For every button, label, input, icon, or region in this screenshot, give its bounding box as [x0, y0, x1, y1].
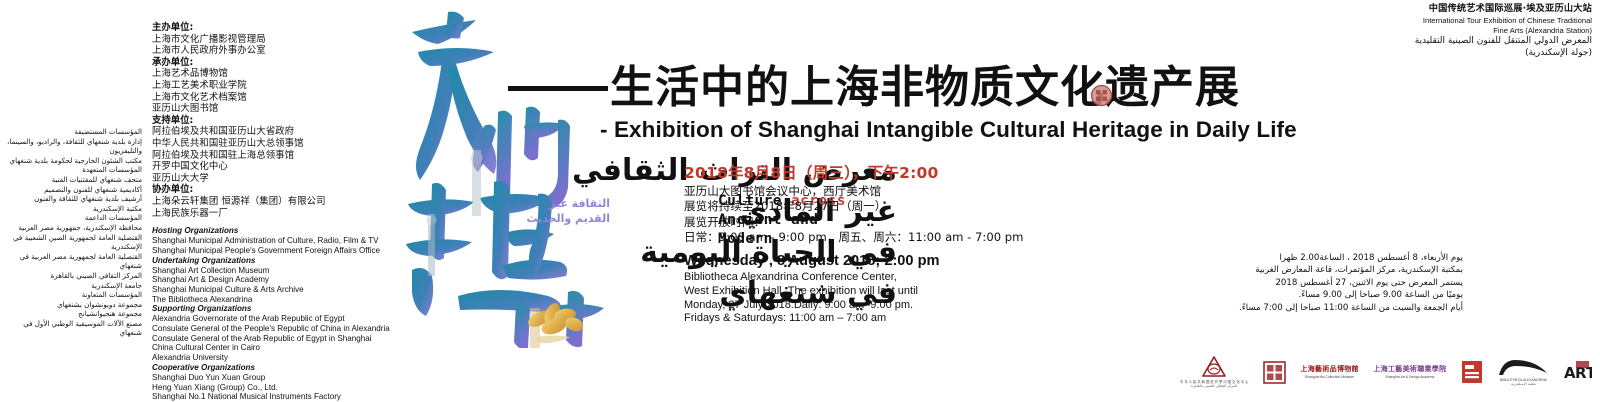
event-en-line2: West Exhibition Hall ;The exhibition wil…	[684, 285, 1114, 299]
header-block: 中国传统艺术国际巡展·埃及亚历山大站 International Tour Ex…	[1360, 3, 1592, 59]
arabic-organizations-column: المؤسسات المستضيفة إدارة بلدية شنغهاي لل…	[2, 127, 142, 338]
org-spacer	[152, 219, 402, 226]
en-org-line: Shanghai Art Collection Museum	[152, 266, 402, 276]
logo-shanghai-seal	[1263, 361, 1286, 384]
arabic-org-line: متحف شنغهاي للمقتنيات الفنية	[2, 175, 142, 185]
cn-org-line: 阿拉伯埃及共和国驻上海总领事馆	[152, 150, 402, 162]
cn-org-line: 上海市文化艺术档案馆	[152, 92, 402, 104]
en-org-line: Consulate General of the Arab Republic o…	[152, 334, 402, 344]
en-org-line: Alexandria Governorate of the Arab Repub…	[152, 314, 402, 324]
header-title-cn: 中国传统艺术国际巡展·埃及亚历山大站	[1360, 3, 1592, 15]
arabic-org-line: المؤسسات الداعمة	[2, 213, 142, 223]
header-title-en-line2: Fine Arts (Alexandria Station)	[1360, 26, 1592, 35]
organizations-column: 主办单位: 上海市文化广播影视管理局 上海市人民政府外事办公室 承办单位: 上海…	[152, 22, 402, 402]
arabic-org-line: مجموعة هنجيوانشيانج	[2, 309, 142, 319]
arabic-org-line: القنصلية العامة لجمهورية مصر العربية في …	[2, 252, 142, 271]
cn-org-line: 上海艺术品博物馆	[152, 68, 402, 80]
cn-org-line: 开罗中国文化中心	[152, 161, 402, 173]
en-undertaking-heading: Undertaking Organizations	[152, 256, 402, 266]
event-ar-line1: يوم الأربعاء، 8 أغسطس 2018 ، الساعة2.00 …	[1118, 252, 1463, 264]
en-cooperative-heading: Cooperative Organizations	[152, 363, 402, 373]
bibliotheca-icon	[1497, 357, 1549, 377]
arabic-org-line: مكتب الشئون الخارجية لحكومة بلدية شنغهاي	[2, 156, 142, 166]
page-title-en: - Exhibition of Shanghai Intangible Cult…	[600, 117, 1297, 143]
header-title-en-line1: International Tour Exhibition of Chinese…	[1360, 16, 1592, 25]
event-ar-line5: أيام الجمعة والسبت من الساعة 11:00 صباحا…	[1118, 302, 1463, 314]
page-title-cn: 生活中的上海非物质文化遗产展	[610, 62, 1240, 114]
event-en-line3: Monday, 27 July 2018:Daily: 9:00 am–9:00…	[684, 299, 1114, 313]
arabic-org-line: أكاديمية شنغهاي للفنون والتصميم	[2, 185, 142, 195]
event-en-line4: Fridays & Saturdays: 11:00 am – 7:00 am	[684, 312, 1114, 326]
title-dash	[508, 86, 608, 91]
arabic-org-line: أرشيف بلدية شنغهاي للثقافة والفنون	[2, 194, 142, 204]
shanghai-seal-icon	[1263, 361, 1286, 384]
cn-org-line: 亚历山大大学	[152, 173, 402, 185]
en-org-line: Alexandria University	[152, 353, 402, 363]
sponsor-logo-strip: 中 华 人 民 共 和 国 驻 开 罗 中 国 文 化 中 心 المركز ا…	[1180, 348, 1592, 396]
event-details-cn: 2018年8月8日（周三），下午2:00 亚历山大图书馆会议中心，西厅美术馆 展…	[684, 163, 1184, 246]
poster-canvas: 中国传统艺术国际巡展·埃及亚历山大站 International Tour Ex…	[0, 0, 1600, 400]
en-org-line: The Bibliotheca Alexandrina	[152, 295, 402, 305]
arabic-org-line: المؤسسات المستضيفة	[2, 127, 142, 137]
logo-mark-cn: 上海藝術品博物館	[1300, 364, 1358, 374]
logo-art: A RT	[1564, 360, 1592, 384]
cn-org-line: 上海市人民政府外事办公室	[152, 45, 402, 57]
logo-shanghai-archive	[1461, 360, 1483, 384]
art-logo-icon: A RT	[1564, 360, 1592, 384]
cn-undertaking-heading: 承办单位:	[152, 57, 402, 69]
cn-cooperative-heading: 协办单位:	[152, 184, 402, 196]
logo-china-cultural-center-cairo: 中 华 人 民 共 和 国 驻 开 罗 中 国 文 化 中 心 المركز ا…	[1180, 355, 1248, 389]
arabic-org-line: مصنع الآلات الموسيقية الوطني الأول في شن…	[2, 319, 142, 338]
en-org-line: Consulate General of the People's Republ…	[152, 324, 402, 334]
arabic-org-line: المركز الثقافي الصيني بالقاهرة	[2, 271, 142, 281]
archive-icon	[1461, 360, 1483, 384]
en-org-line: Shanghai Municipal People's Government F…	[152, 246, 402, 256]
arabic-org-line: جامعة الإسكندرية	[2, 281, 142, 291]
event-details-ar: يوم الأربعاء، 8 أغسطس 2018 ، الساعة2.00 …	[1118, 252, 1463, 314]
event-details-en: Wednesday , 8 August 2018; 2:00 pm Bibli…	[684, 252, 1114, 326]
event-ar-line2: بمكتبة الإسكندرية، مركز المؤتمرات، قاعة …	[1118, 264, 1463, 276]
arabic-org-line: المؤسسات المتعاونة	[2, 290, 142, 300]
logo-bibliotheca-alexandrina: BIBLIOTHECA ALEXANDRINA مكتبة الإسكندرية	[1497, 357, 1549, 387]
logo-caption-ar: مكتبة الإسكندرية	[1511, 382, 1536, 387]
cn-org-line: 上海朵云轩集团 恒源祥（集团）有限公司	[152, 196, 402, 208]
event-cn-hours: 日常：9:00 am - 9:00 pm，周五、周六：11:00 am - 7:…	[684, 230, 1184, 245]
cn-org-line: 上海民族乐器一厂	[152, 208, 402, 220]
event-cn-hours-label: 展览开放时间：	[684, 215, 1184, 230]
event-en-line1: Bibliotheca Alexandrina Conference Cente…	[684, 271, 1114, 285]
en-org-line: Shanghai Municipal Culture & Arts Archiv…	[152, 285, 402, 295]
en-org-line: Shanghai Duo Yun Xuan Group	[152, 373, 402, 383]
event-cn-venue: 亚历山大图书馆会议中心，西厅美术馆	[684, 184, 1184, 199]
logo-shanghai-art-collection-museum: 上海藝術品博物館 Shanghai Art Collection Museum	[1300, 364, 1358, 379]
arabic-org-line: محافظة الإسكندرية، جمهورية مصر العربية	[2, 223, 142, 233]
event-ar-line4: يوميًا من الساعة 9.00 صباحا إلى 9.00 مسا…	[1118, 289, 1463, 301]
en-org-line: Shanghai Municipal Administration of Cul…	[152, 236, 402, 246]
en-org-line: Shanghai Art & Design Academy	[152, 275, 402, 285]
cn-org-line: 上海市文化广播影视管理局	[152, 34, 402, 46]
event-cn-highlight: 2018年8月8日（周三），下午2:00	[684, 163, 1184, 184]
cairo-center-icon	[1201, 355, 1227, 379]
cn-org-line: 中华人民共和国驻亚历山大总领事馆	[152, 138, 402, 150]
header-title-ar-line1: المعرض الدولي المتنقل للفنون الصينية الت…	[1360, 36, 1592, 47]
en-org-line: Shanghai No.1 National Musical Instrumen…	[152, 392, 402, 402]
cn-org-line: 亚历山大图书馆	[152, 103, 402, 115]
en-hosting-heading: Hosting Organizations	[152, 226, 402, 236]
event-cn-until: 展览将持续至2018年8月27日（周一）	[684, 199, 1184, 214]
logo-shanghai-art-design-academy: 上海工藝美術職業學院 Shanghai Art & Design Academy	[1373, 364, 1446, 379]
cn-org-line: 上海工艺美术职业学院	[152, 80, 402, 92]
cn-supporting-heading: 支持单位:	[152, 115, 402, 127]
arabic-org-line: المؤسسات المتعهدة	[2, 165, 142, 175]
arabic-org-line: مكتبة الإسكندرية	[2, 204, 142, 214]
header-title-ar-line2: (جولة الإسكندرية)	[1360, 48, 1592, 59]
arabic-org-line: القنصلية العامة لجمهورية الصين الشعبية ف…	[2, 233, 142, 252]
en-org-line: Heng Yuan Xiang (Group) Co., Ltd.	[152, 383, 402, 393]
logo-caption: Shanghai Art Collection Museum	[1305, 375, 1354, 379]
cn-org-line: 阿拉伯埃及共和国亚历山大省政府	[152, 126, 402, 138]
arabic-org-line: مجموعة دويونشوان بشنغهاي	[2, 300, 142, 310]
red-seal-stamp-icon	[1090, 84, 1113, 107]
en-supporting-heading: Supporting Organizations	[152, 304, 402, 314]
logo-mark-cn: 上海工藝美術職業學院	[1373, 364, 1446, 374]
event-ar-line3: يستمر المعرض حتى يوم الاثنين، 27 أغسطس 2…	[1118, 277, 1463, 289]
event-en-highlight: Wednesday , 8 August 2018; 2:00 pm	[684, 252, 1114, 271]
logo-caption-ar: المركز الثقافي الصيني بالقاهرة	[1191, 384, 1237, 389]
arabic-org-line: إدارة بلدية شنغهاي للثقافة، والراديو، وا…	[2, 137, 142, 156]
logo-caption: Shanghai Art & Design Academy	[1385, 375, 1434, 379]
cn-hosting-heading: 主办单位:	[152, 22, 402, 34]
en-org-line: China Cultural Center in Cairo	[152, 343, 402, 353]
